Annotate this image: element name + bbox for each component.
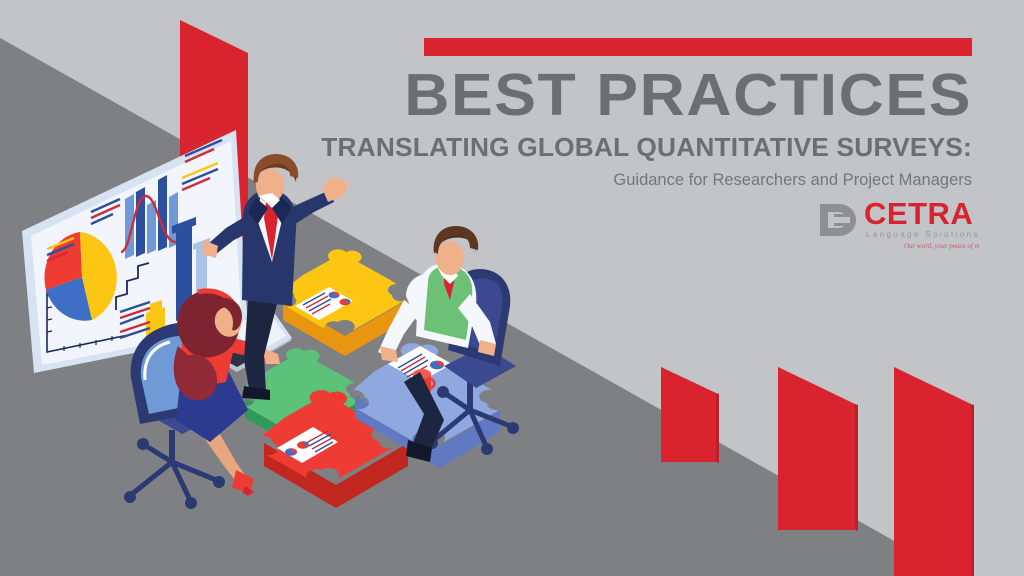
cetra-wordmark: CETRA [864, 198, 973, 229]
cetra-tagline: Language Solutions [866, 230, 980, 239]
background-scene [0, 0, 1024, 576]
slide-canvas: BEST PRACTICES TRANSLATING GLOBAL QUANTI… [0, 0, 1024, 576]
cetra-logo[interactable]: CETRA Language Solutions Our word, your … [816, 198, 976, 258]
top-accent-bar [424, 38, 972, 56]
wall-panel-red-3-edge [971, 404, 974, 576]
cetra-d-monogram-icon [816, 200, 860, 240]
cetra-slogan: Our word, your peace of m [904, 242, 980, 250]
wall-panel-red-2-edge [855, 404, 858, 531]
